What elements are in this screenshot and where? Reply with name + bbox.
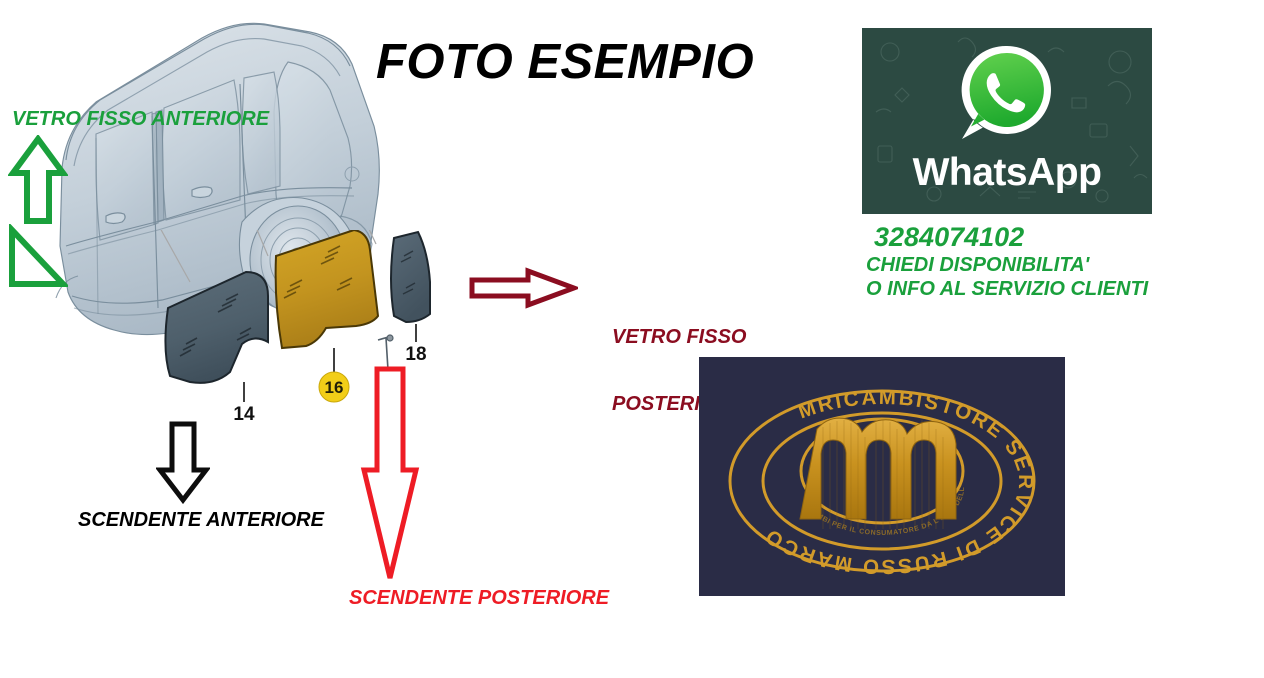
part-number-14: 14 <box>233 404 255 425</box>
shop-logo-badge: MRICAMBISTORE SERVICE DI RUSSO MARCO RIC… <box>699 357 1065 596</box>
down-arrow-red-icon <box>360 366 420 584</box>
whatsapp-banner[interactable]: WhatsApp <box>862 28 1152 214</box>
part-16-shape <box>276 230 378 348</box>
contact-line-availability: CHIEDI DISPONIBILITA' <box>866 253 1196 277</box>
contact-phone-number[interactable]: 3284074102 <box>874 222 1196 253</box>
callout-scendente-anteriore: SCENDENTE ANTERIORE <box>78 509 324 531</box>
right-arrow-dark-red-icon <box>468 266 578 310</box>
page-title: FOTO ESEMPIO <box>376 34 754 90</box>
part-number-18: 18 <box>405 344 426 365</box>
svg-text:16: 16 <box>325 378 344 397</box>
part-number-16-badge: 16 <box>319 372 349 402</box>
part-17-bolt <box>378 335 393 370</box>
part-14-shape <box>165 272 268 383</box>
up-arrow-green-icon <box>8 135 68 227</box>
callout-vetro-fisso-posteriore-line1: VETRO FISSO <box>612 326 746 348</box>
contact-line-customer-service: O INFO AL SERVIZIO CLIENTI <box>866 277 1196 301</box>
callout-scendente-posteriore: SCENDENTE POSTERIORE <box>349 587 609 609</box>
example-photo-infographic: 16 14 17 18 FOTO ESEMPIO VETRO FISSO ANT… <box>0 0 1264 678</box>
exploded-glass-parts-diagram: 16 14 17 18 <box>150 230 490 430</box>
whatsapp-phone-bubble-icon <box>955 42 1059 146</box>
triangle-green-icon <box>6 224 68 290</box>
callout-vetro-fisso-anteriore: VETRO FISSO ANTERIORE <box>12 108 269 130</box>
whatsapp-wordmark: WhatsApp <box>862 151 1152 195</box>
contact-block: 3284074102 CHIEDI DISPONIBILITA' O INFO … <box>866 222 1196 302</box>
down-arrow-black-icon <box>156 420 210 504</box>
part-18-shape <box>391 232 430 322</box>
shop-logo-graphic: MRICAMBISTORE SERVICE DI RUSSO MARCO RIC… <box>699 357 1065 596</box>
